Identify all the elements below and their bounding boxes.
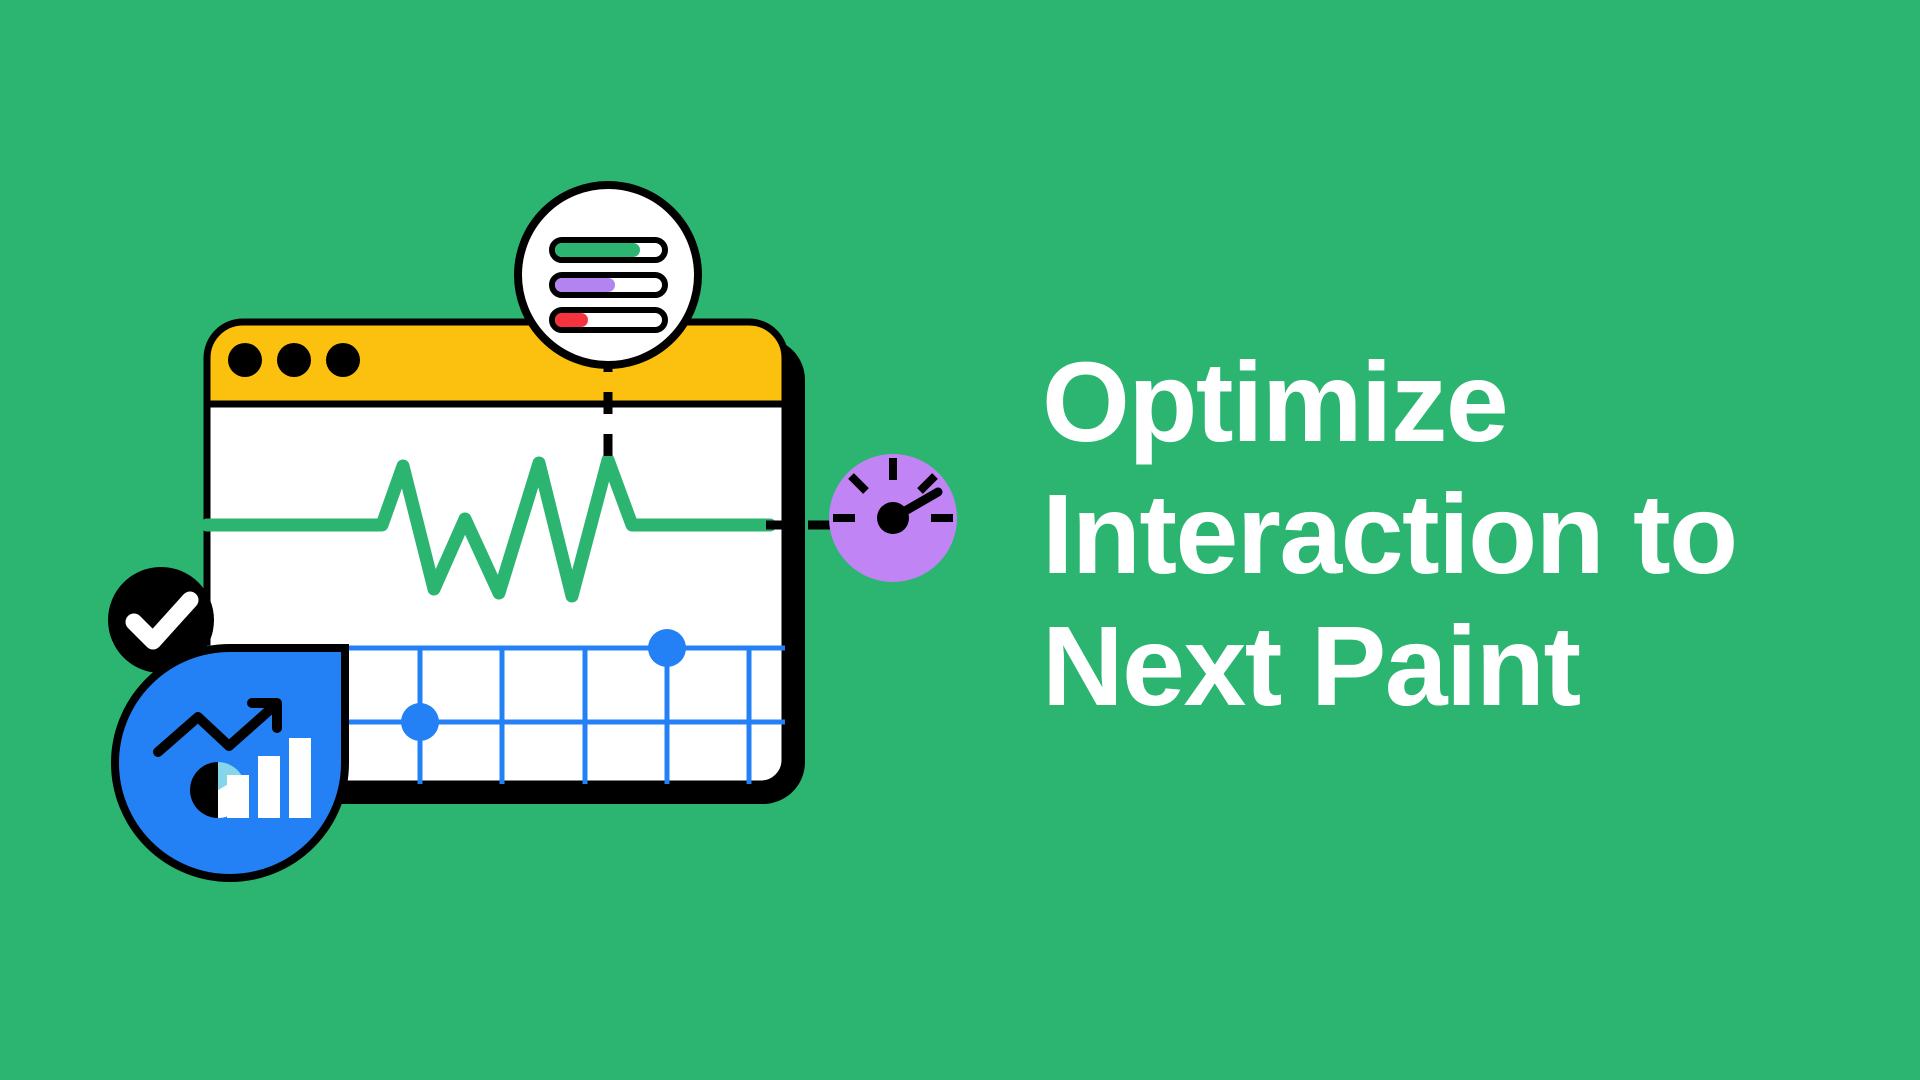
hero-banner: Optimize Interaction to Next Paint — [0, 0, 1920, 1080]
headline-line-3: Next Paint — [1042, 600, 1872, 732]
gauge-badge[interactable] — [829, 454, 957, 582]
metrics-badge[interactable] — [518, 185, 698, 365]
poor-metric-bar[interactable] — [552, 310, 665, 330]
page-title: Optimize Interaction to Next Paint — [1042, 336, 1872, 732]
gauge-hub-icon — [877, 502, 909, 534]
headline-line-1: Optimize — [1042, 336, 1872, 468]
needs-improvement-metric-bar[interactable] — [552, 275, 665, 295]
analytics-badge[interactable] — [115, 648, 345, 878]
grid-data-point[interactable] — [648, 629, 686, 667]
headline-line-2: Interaction to — [1042, 468, 1872, 600]
grid-data-point[interactable] — [401, 703, 439, 741]
good-metric-bar[interactable] — [552, 240, 665, 260]
window-dot-2-icon[interactable] — [277, 343, 311, 377]
window-dot-3-icon[interactable] — [326, 343, 360, 377]
window-dot-1-icon[interactable] — [228, 343, 262, 377]
illustration-group — [0, 0, 1060, 1080]
